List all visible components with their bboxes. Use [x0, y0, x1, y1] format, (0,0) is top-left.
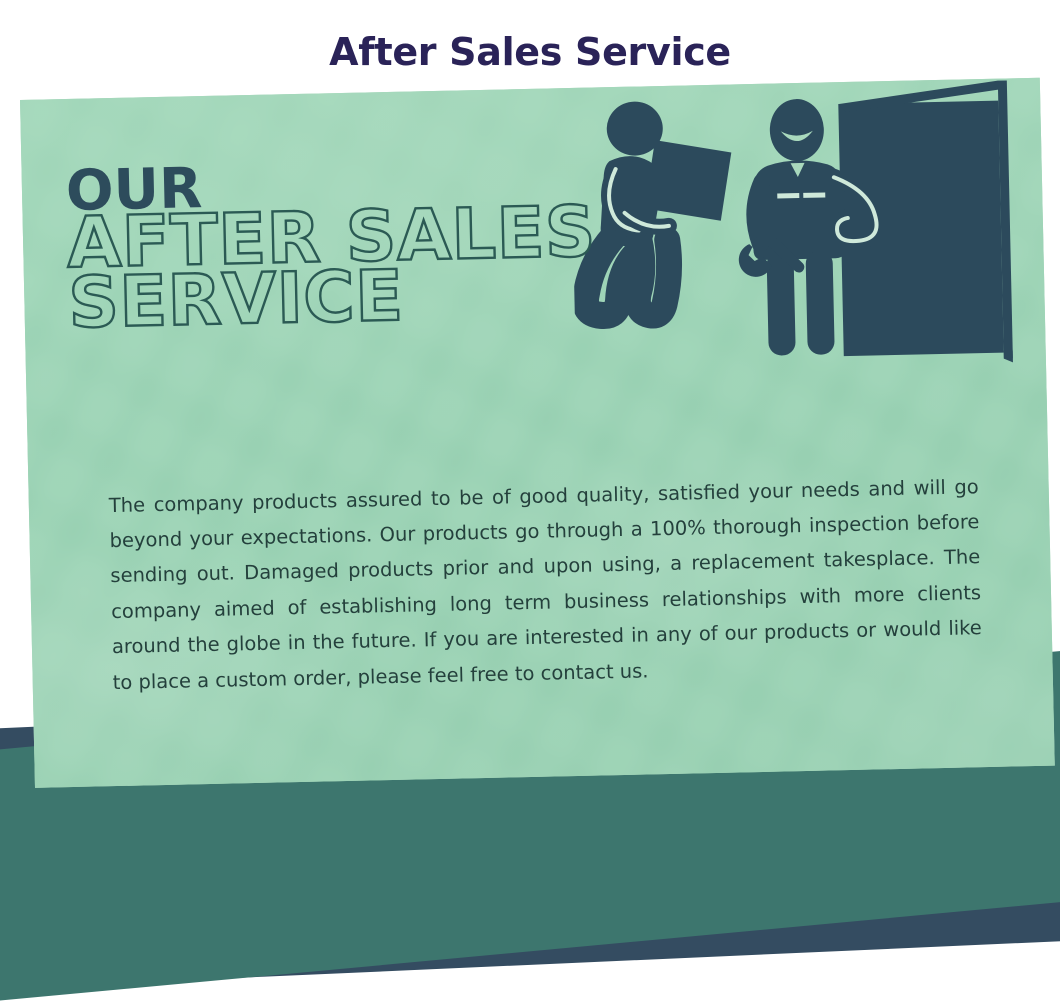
- delivery-person: [581, 100, 735, 317]
- page-title: After Sales Service: [0, 30, 1060, 74]
- content-card: OUR AFTER SALES SERVICE The company prod…: [20, 78, 1055, 788]
- after-sales-illustration: [570, 78, 1047, 428]
- card-heading: OUR AFTER SALES SERVICE: [65, 155, 597, 336]
- doorway-frame: [838, 80, 1013, 366]
- card-body-text: The company products assured to be of go…: [108, 469, 982, 701]
- package-box: [643, 138, 733, 222]
